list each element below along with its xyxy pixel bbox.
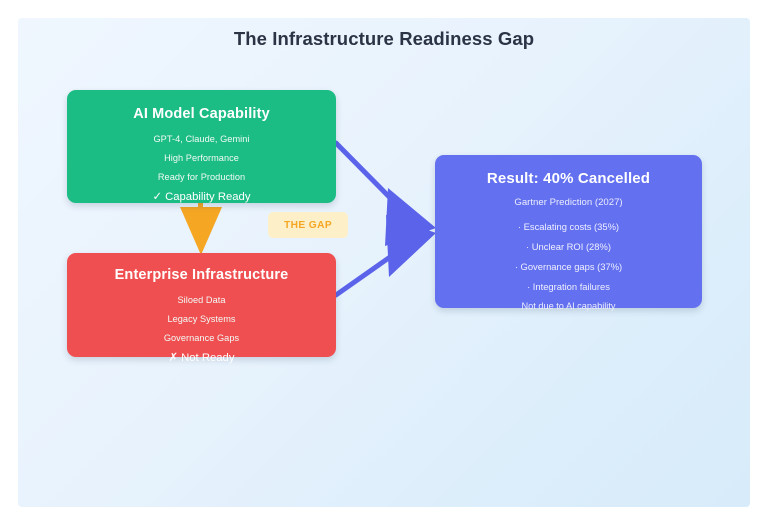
node-line: Legacy Systems xyxy=(67,314,336,324)
node-line: Siloed Data xyxy=(67,295,336,305)
node-title: Enterprise Infrastructure xyxy=(67,267,336,283)
node-line: GPT-4, Claude, Gemini xyxy=(67,134,336,144)
node-subtitle: Gartner Prediction (2027) xyxy=(435,197,702,208)
node-result[interactable]: Result: 40% Cancelled Gartner Prediction… xyxy=(435,155,702,308)
diagram-canvas: The Infrastructure Readiness Gap AI Mode… xyxy=(0,0,768,525)
node-bullet: · Integration failures xyxy=(435,281,702,292)
node-title: AI Model Capability xyxy=(67,106,336,122)
node-title: Result: 40% Cancelled xyxy=(435,170,702,187)
node-bullet: · Unclear ROI (28%) xyxy=(435,241,702,252)
node-ai-model-capability[interactable]: AI Model Capability GPT-4, Claude, Gemin… xyxy=(67,90,336,203)
page-title: The Infrastructure Readiness Gap xyxy=(0,28,768,50)
node-line: Governance Gaps xyxy=(67,333,336,343)
node-enterprise-infrastructure[interactable]: Enterprise Infrastructure Siloed Data Le… xyxy=(67,253,336,357)
node-bullet: · Escalating costs (35%) xyxy=(435,221,702,232)
node-line: Ready for Production xyxy=(67,172,336,182)
node-bullet: · Governance gaps (37%) xyxy=(435,261,702,272)
node-status-not-ready: ✗ Not Ready xyxy=(67,351,336,364)
node-line: High Performance xyxy=(67,153,336,163)
node-status-ready: ✓ Capability Ready xyxy=(67,190,336,203)
node-footnote: Not due to AI capability xyxy=(435,301,702,311)
gap-badge: THE GAP xyxy=(268,212,348,238)
